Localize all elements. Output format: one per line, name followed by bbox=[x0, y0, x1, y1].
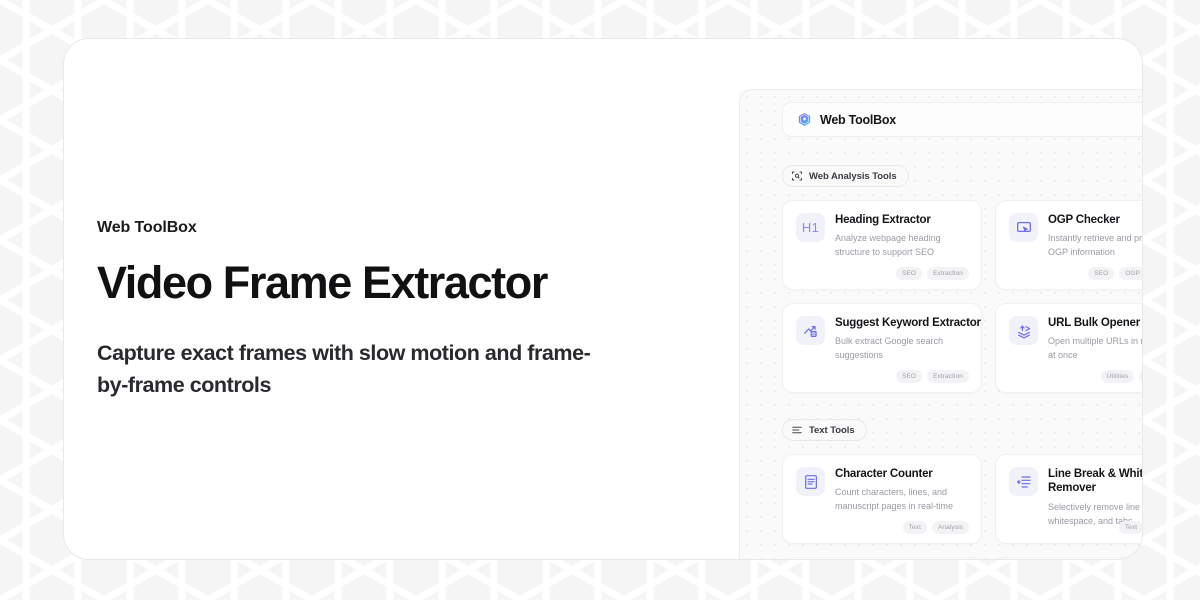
tag: SEO bbox=[896, 267, 922, 280]
page-title: Video Frame Extractor bbox=[97, 259, 657, 307]
app-content: Web ToolBox Web Analysis Tools bbox=[740, 90, 1143, 560]
tool-card[interactable]: Text Duplicate Remover bbox=[782, 557, 982, 560]
brand-eyebrow: Web ToolBox bbox=[97, 219, 657, 237]
tag: Utilities bbox=[1101, 370, 1135, 383]
tool-card-top: Line Break & Whitespace Remover Selectiv… bbox=[1009, 467, 1143, 529]
tool-card-description: Count characters, lines, and manuscript … bbox=[835, 486, 968, 514]
hero-text-block: Web ToolBox Video Frame Extractor Captur… bbox=[97, 219, 657, 401]
tag: Analysis bbox=[932, 521, 969, 534]
tool-card[interactable]: Character Counter Count characters, line… bbox=[782, 454, 982, 544]
tool-card[interactable]: H1 Heading Extractor Analyze webpage hea… bbox=[782, 200, 982, 290]
tool-card[interactable]: Line Break & Whitespace Remover Selectiv… bbox=[995, 454, 1143, 544]
tool-card-texts: URL Bulk Opener Open multiple URLs in ne… bbox=[1048, 316, 1143, 363]
tool-card-top: Suggest Keyword Extractor Bulk extract G… bbox=[796, 316, 968, 363]
scan-search-icon bbox=[791, 170, 803, 182]
trending-up-document-icon bbox=[796, 316, 825, 345]
tool-card-grid-web-analysis: H1 Heading Extractor Analyze webpage hea… bbox=[782, 187, 1143, 393]
tool-card-tags: Text Utilities bbox=[1119, 521, 1143, 534]
hero-card: Web ToolBox Video Frame Extractor Captur… bbox=[63, 38, 1143, 560]
tag: SEO bbox=[896, 370, 922, 383]
tool-card-texts: Line Break & Whitespace Remover Selectiv… bbox=[1048, 467, 1143, 529]
app-header-bar: Web ToolBox bbox=[782, 102, 1143, 137]
spacer bbox=[740, 137, 1143, 165]
tool-card-grid-text-tools: Character Counter Count characters, line… bbox=[782, 441, 1143, 560]
tool-card[interactable]: Suggest Keyword Extractor Bulk extract G… bbox=[782, 303, 982, 393]
list-lines-icon bbox=[791, 424, 803, 436]
tool-card-texts: Heading Extractor Analyze webpage headin… bbox=[835, 213, 968, 260]
tool-card-tags: SEO Extraction bbox=[896, 370, 969, 383]
tag: Extraction bbox=[927, 267, 969, 280]
tool-card[interactable]: OGP Checker Instantly retrieve and previ… bbox=[995, 200, 1143, 290]
spacer bbox=[740, 393, 1143, 419]
text-wrap-left-icon bbox=[1009, 467, 1038, 496]
section-badge-text-tools[interactable]: Text Tools bbox=[782, 419, 867, 441]
tag: Developer bbox=[1139, 370, 1143, 383]
page-subtitle: Capture exact frames with slow motion an… bbox=[97, 337, 607, 402]
tool-card-top: Character Counter Count characters, line… bbox=[796, 467, 968, 514]
section-badge-label: Web Analysis Tools bbox=[809, 171, 897, 182]
layers-up-arrow-icon bbox=[1009, 316, 1038, 345]
app-preview-panel: Web ToolBox Web Analysis Tools bbox=[739, 89, 1143, 560]
hexagon-logo-icon bbox=[797, 112, 812, 127]
tool-card-tags: Text Analysis bbox=[903, 521, 969, 534]
app-brand-label: Web ToolBox bbox=[820, 113, 896, 127]
tool-card-top: URL Bulk Opener Open multiple URLs in ne… bbox=[1009, 316, 1143, 363]
tag: Extraction bbox=[927, 370, 969, 383]
tool-card[interactable]: URL Bulk Opener Open multiple URLs in ne… bbox=[995, 303, 1143, 393]
tag: OGP bbox=[1119, 267, 1143, 280]
tool-card-title: Line Break & Whitespace Remover bbox=[1048, 467, 1143, 496]
tool-card-texts: Character Counter Count characters, line… bbox=[835, 467, 968, 514]
tag: Text bbox=[1119, 521, 1143, 534]
tag: SEO bbox=[1088, 267, 1114, 280]
tag: Text bbox=[903, 521, 927, 534]
tool-card-top: OGP Checker Instantly retrieve and previ… bbox=[1009, 213, 1143, 260]
screenshot-stage: Web ToolBox Video Frame Extractor Captur… bbox=[0, 0, 1200, 600]
tool-card-tags: SEO OGP Check bbox=[1088, 267, 1143, 280]
monitor-cursor-icon bbox=[1009, 213, 1038, 242]
tool-card-title: Heading Extractor bbox=[835, 213, 968, 227]
tool-card-description: Instantly retrieve and preview OGP infor… bbox=[1048, 232, 1143, 260]
tool-card-title: Suggest Keyword Extractor bbox=[835, 316, 968, 330]
tool-card-tags: Utilities Developer bbox=[1101, 370, 1143, 383]
tool-card-top: H1 Heading Extractor Analyze webpage hea… bbox=[796, 213, 968, 260]
document-lines-icon bbox=[796, 467, 825, 496]
tool-card-title: Character Counter bbox=[835, 467, 968, 481]
tool-card-texts: OGP Checker Instantly retrieve and previ… bbox=[1048, 213, 1143, 260]
tool-card-description: Bulk extract Google search suggestions bbox=[835, 335, 968, 363]
tool-card-tags: SEO Extraction bbox=[896, 267, 969, 280]
tool-card-title: OGP Checker bbox=[1048, 213, 1143, 227]
tool-card-description: Open multiple URLs in new tabs at once bbox=[1048, 335, 1143, 363]
tool-card-title: URL Bulk Opener bbox=[1048, 316, 1143, 330]
tool-card-texts: Suggest Keyword Extractor Bulk extract G… bbox=[835, 316, 968, 363]
app-preview-clip: Web ToolBox Web Analysis Tools bbox=[739, 89, 1143, 560]
tool-card[interactable]: Text Line Joiner bbox=[995, 557, 1143, 560]
tool-card-description: Analyze webpage heading structure to sup… bbox=[835, 232, 968, 260]
section-badge-label: Text Tools bbox=[809, 425, 855, 436]
h1-heading-icon: H1 bbox=[796, 213, 825, 242]
section-badge-web-analysis-tools[interactable]: Web Analysis Tools bbox=[782, 165, 909, 187]
